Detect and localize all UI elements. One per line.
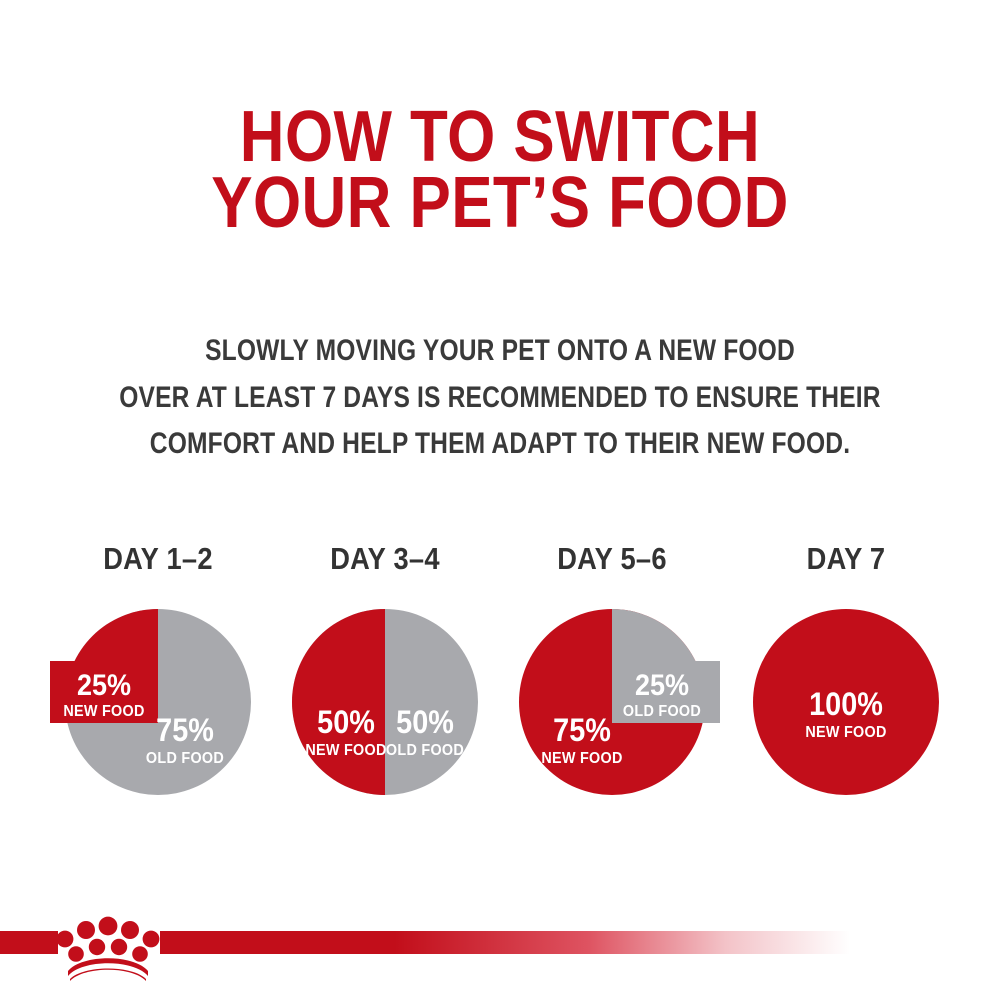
pie-chart-day-1-2-label: DAY 1–2 bbox=[61, 540, 255, 578]
page-title-line-2: YOUR PET’S FOOD bbox=[70, 170, 930, 236]
old-food-name: OLD FOOD bbox=[146, 749, 224, 767]
royal-canin-crown-logo bbox=[56, 914, 160, 987]
pie-chart-day-7-label: DAY 7 bbox=[749, 540, 943, 578]
new-food-name: NEW FOOD bbox=[305, 741, 386, 759]
new-food-name: NEW FOOD bbox=[63, 702, 144, 720]
new-food-percent: 75% bbox=[553, 713, 611, 749]
page-title: HOW TO SWITCH YOUR PET’S FOOD bbox=[0, 104, 1000, 236]
pie-chart-day-1-2: DAY 1–2 25% NEW FOOD 75% OLD FOOD bbox=[48, 540, 268, 810]
new-food-percent: 50% bbox=[317, 705, 375, 741]
old-food-name: OLD FOOD bbox=[386, 741, 464, 759]
old-food-percent: 50% bbox=[396, 705, 454, 741]
page-subtitle: SLOWLY MOVING YOUR PET ONTO A NEW FOOD O… bbox=[0, 328, 1000, 468]
page-subtitle-line-1: SLOWLY MOVING YOUR PET ONTO A NEW FOOD bbox=[90, 328, 910, 375]
pie-chart-day-5-6-graphic: 25% OLD FOOD 75% NEW FOOD bbox=[502, 605, 722, 815]
crown-icon bbox=[57, 917, 160, 981]
pie-chart-row: DAY 1–2 25% NEW FOOD 75% OLD FOOD DAY bbox=[0, 540, 1000, 810]
pie-chart-day-5-6-label: DAY 5–6 bbox=[515, 540, 709, 578]
slice-new-food bbox=[292, 609, 385, 795]
pie-chart-day-3-4: DAY 3–4 50% NEW FOOD 50% OLD FOOD bbox=[275, 540, 495, 810]
new-food-percent: 25% bbox=[77, 669, 131, 703]
old-food-name: OLD FOOD bbox=[623, 702, 701, 720]
pie-chart-day-1-2-graphic: 25% NEW FOOD 75% OLD FOOD bbox=[48, 605, 268, 815]
new-food-name: NEW FOOD bbox=[805, 723, 886, 741]
pie-chart-day-7-graphic: 100% NEW FOOD bbox=[736, 605, 956, 815]
page-subtitle-line-2: OVER AT LEAST 7 DAYS IS RECOMMENDED TO E… bbox=[90, 375, 910, 422]
old-food-percent: 75% bbox=[156, 713, 214, 749]
footer bbox=[0, 900, 1000, 1000]
old-food-percent: 25% bbox=[635, 669, 689, 703]
pie-chart-day-5-6: DAY 5–6 25% OLD FOOD 75% NEW FOOD bbox=[502, 540, 722, 810]
pie-chart-day-3-4-label: DAY 3–4 bbox=[288, 540, 482, 578]
new-food-percent: 100% bbox=[809, 687, 883, 723]
footer-bar-right bbox=[160, 931, 850, 954]
pie-chart-day-3-4-graphic: 50% NEW FOOD 50% OLD FOOD bbox=[275, 605, 495, 815]
pie-chart-day-7: DAY 7 100% NEW FOOD bbox=[736, 540, 956, 810]
page-title-line-1: HOW TO SWITCH bbox=[70, 104, 930, 170]
footer-bar-left bbox=[0, 931, 58, 954]
new-food-name: NEW FOOD bbox=[541, 749, 622, 767]
page-subtitle-line-3: COMFORT AND HELP THEM ADAPT TO THEIR NEW… bbox=[90, 421, 910, 468]
